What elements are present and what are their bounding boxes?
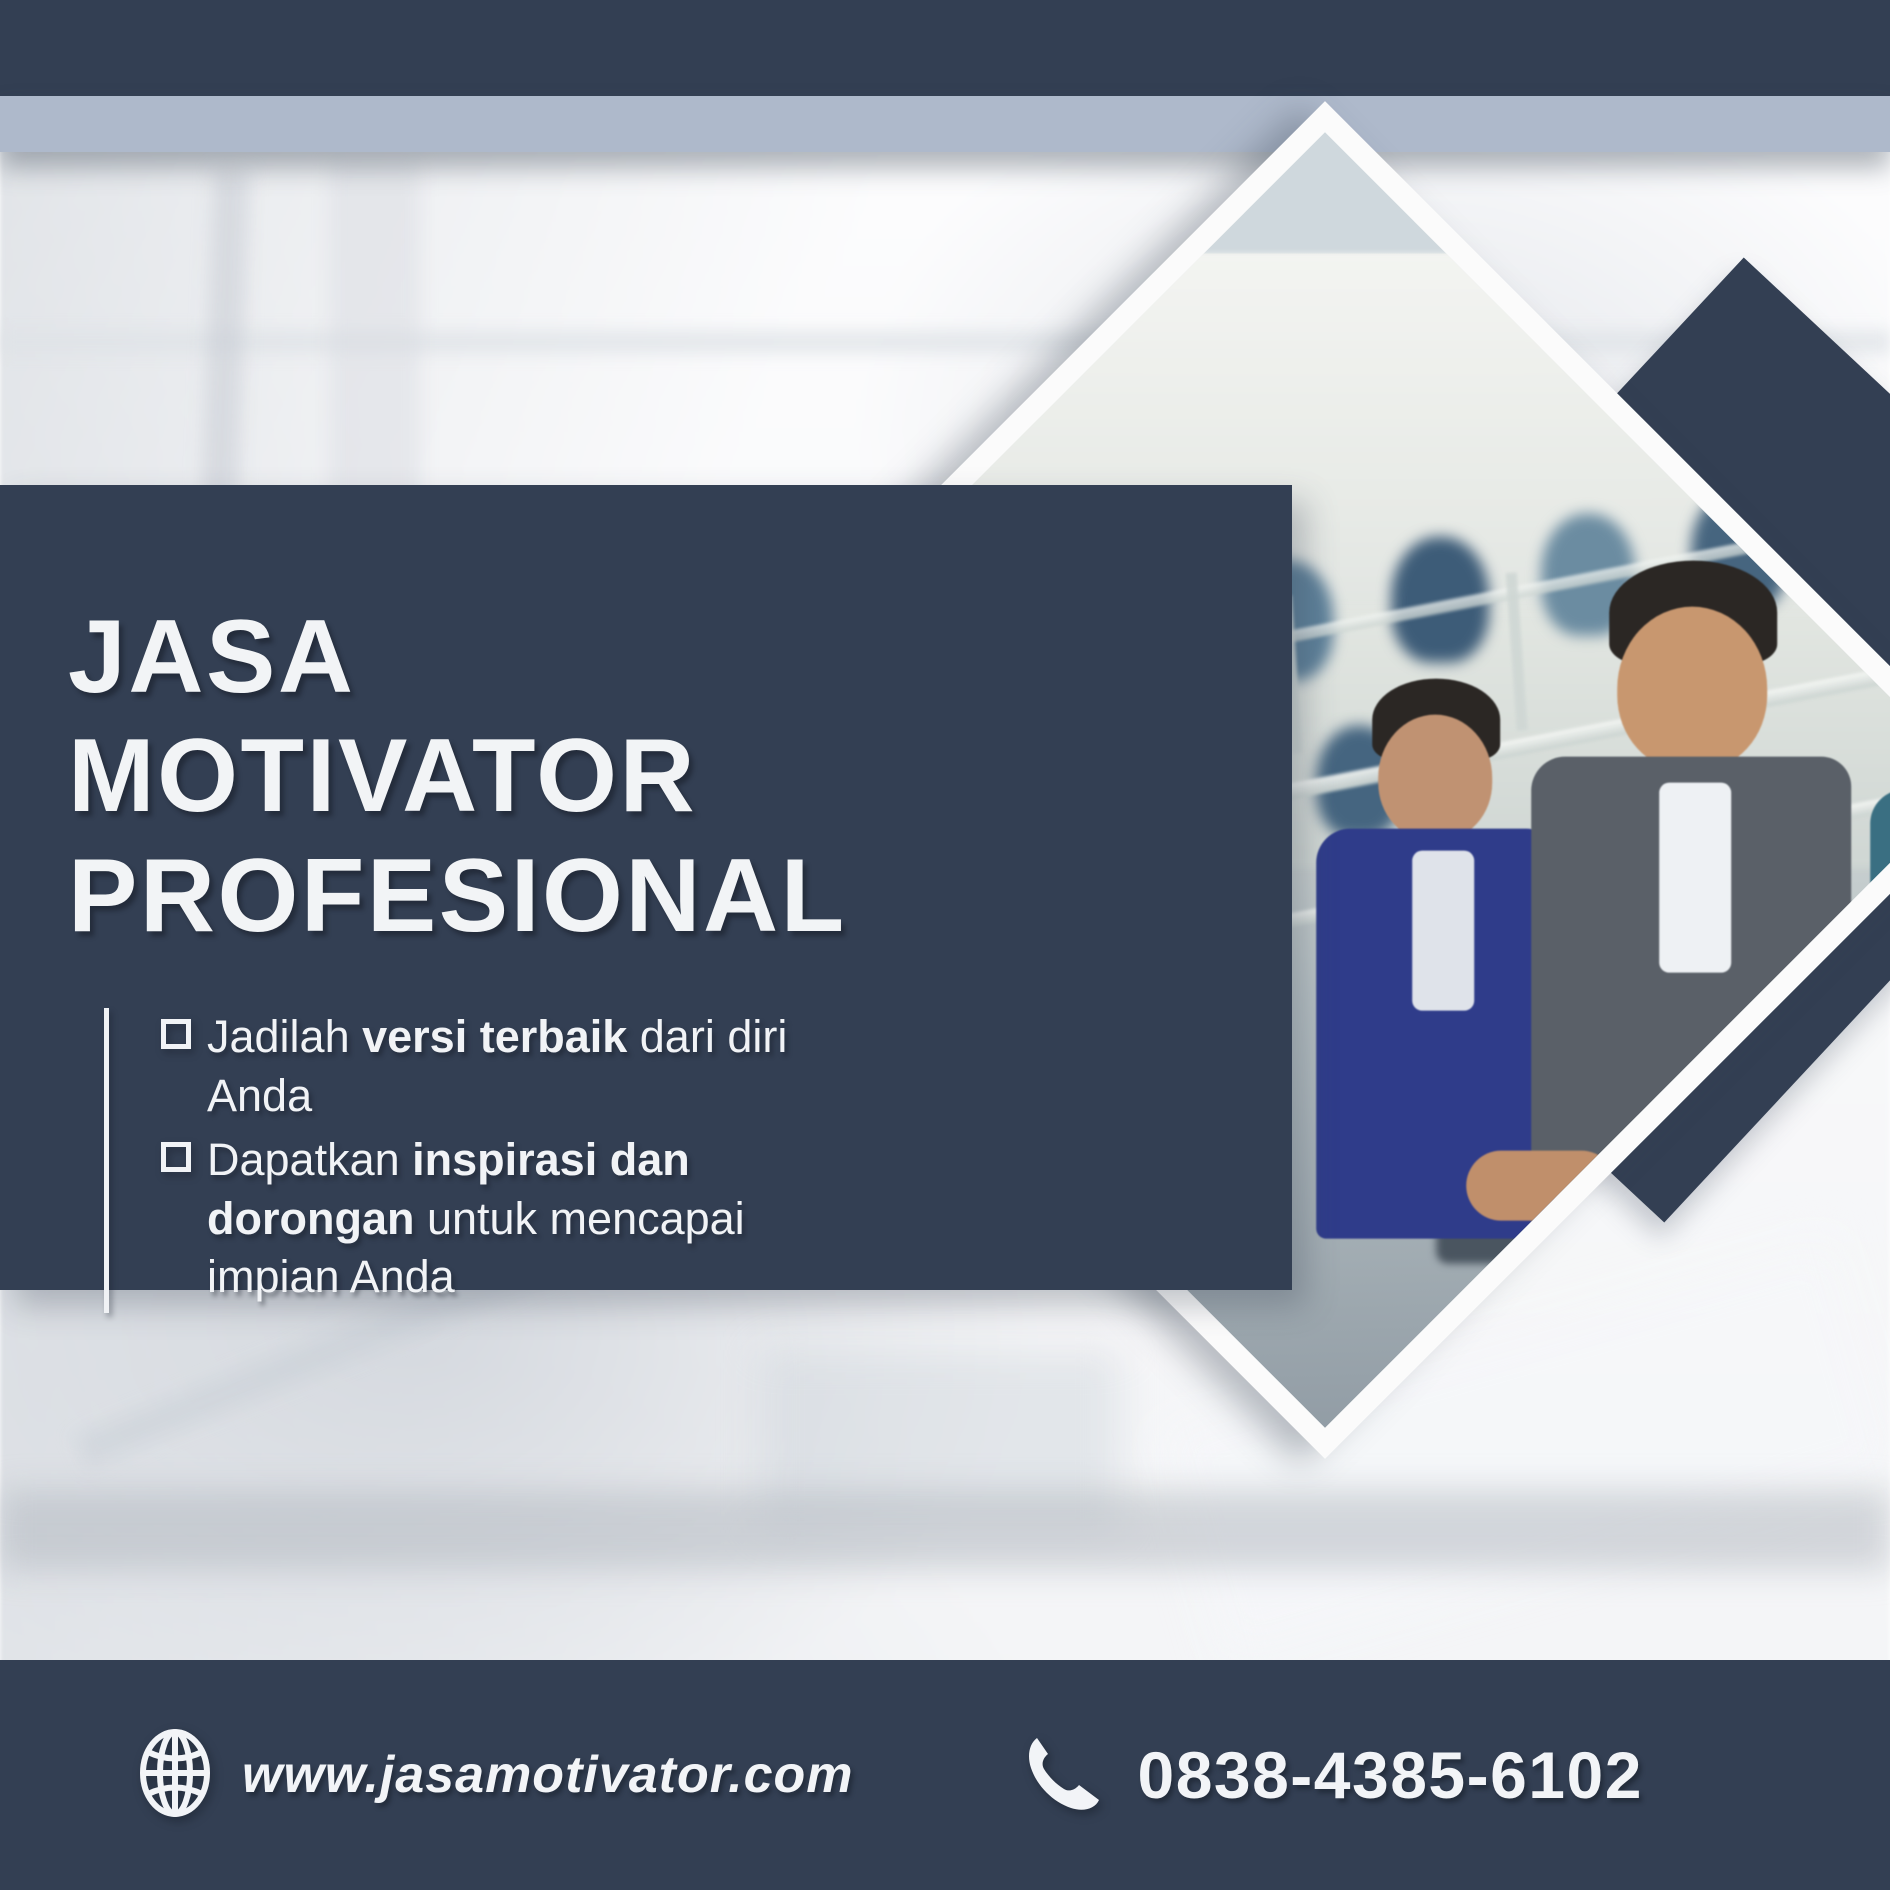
benefit-2-prefix: Dapatkan <box>207 1134 412 1185</box>
empty-square-icon <box>161 1019 191 1049</box>
headline-line-2: MOTIVATOR <box>68 717 1108 837</box>
page-title: JASA MOTIVATOR PROFESIONAL <box>68 598 1108 957</box>
top-navy-band <box>0 0 1890 96</box>
footer-bar: www.jasamotivator.com 0838-4385-6102 <box>0 1660 1890 1890</box>
benefits-block: Jadilah versi terbaik dari diri Anda Dap… <box>104 1008 954 1313</box>
benefits-list: Jadilah versi terbaik dari diri Anda Dap… <box>161 1008 867 1313</box>
poster-canvas: JASA MOTIVATOR PROFESIONAL Jadilah versi… <box>0 0 1890 1890</box>
phone-number[interactable]: 0838-4385-6102 <box>1137 1737 1642 1813</box>
globe-icon <box>138 1729 212 1822</box>
background-streak <box>0 1490 1890 1570</box>
website-contact[interactable]: www.jasamotivator.com <box>138 1729 853 1822</box>
headline-line-3: PROFESIONAL <box>68 837 1108 957</box>
accent-vertical-rule <box>104 1008 109 1313</box>
background-streak <box>0 330 1890 354</box>
benefit-1-prefix: Jadilah <box>207 1011 362 1062</box>
empty-square-icon <box>161 1142 191 1172</box>
benefit-text-2: Dapatkan inspirasi dan dorongan untuk me… <box>207 1131 867 1307</box>
headline-line-1: JASA <box>68 598 1108 718</box>
website-url[interactable]: www.jasamotivator.com <box>242 1745 853 1805</box>
list-item: Dapatkan inspirasi dan dorongan untuk me… <box>161 1131 867 1307</box>
benefit-1-bold: versi terbaik <box>362 1011 627 1062</box>
top-steel-band <box>0 96 1890 152</box>
list-item: Jadilah versi terbaik dari diri Anda <box>161 1008 867 1125</box>
phone-contact[interactable]: 0838-4385-6102 <box>1023 1732 1642 1819</box>
phone-icon <box>1023 1732 1101 1819</box>
benefit-text-1: Jadilah versi terbaik dari diri Anda <box>207 1008 867 1125</box>
